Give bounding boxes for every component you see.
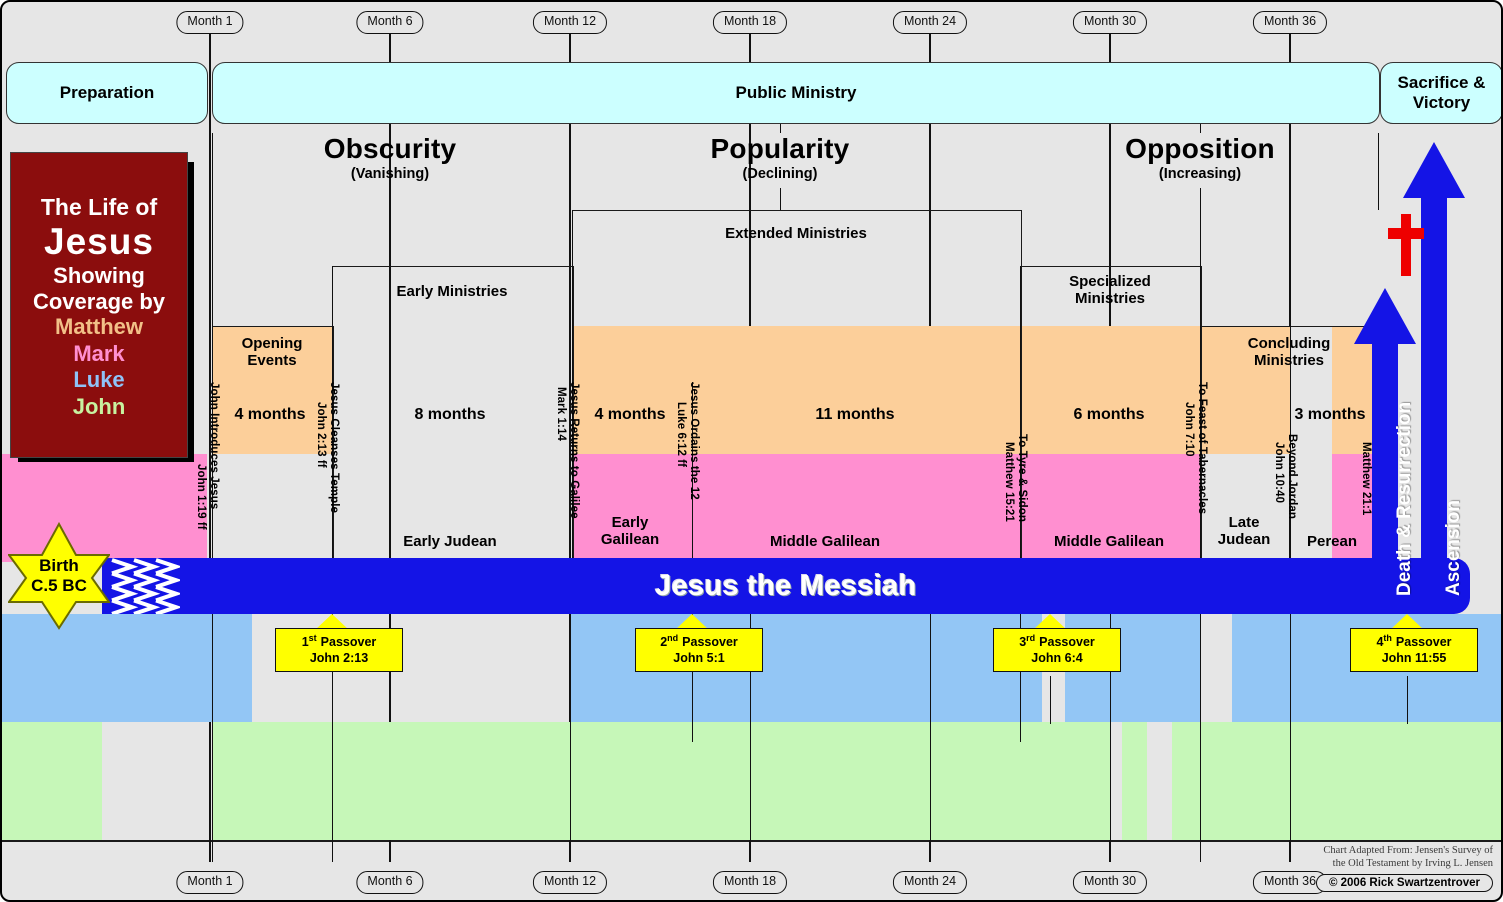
month-marker-top-4: Month 18 [713,11,787,34]
phase-separator-2 [1378,133,1379,210]
passover-tag: 4thPassoverJohn 11:55 [1350,628,1478,672]
header-bar-1: Public Ministry [212,62,1380,124]
event-ref-1: John 2:13 ff [315,402,327,468]
phase-title-2: Opposition(Increasing) [1050,133,1350,182]
passover-reference: John 11:55 [1357,651,1471,667]
header-bar-2: Sacrifice & Victory [1380,62,1503,124]
life-of-jesus-timeline-chart: PreparationPublic MinistrySacrifice & Vi… [0,0,1503,902]
passover-stem [692,676,693,724]
month-marker-top-2: Month 6 [356,11,423,34]
passover-title: 1stPassover [282,633,396,651]
passover-reference: John 6:4 [1000,651,1114,667]
event-label-2: Jesus Returns to Galilee [568,382,580,519]
gospel-band-luke-left [2,614,102,722]
chart-credit: Chart Adapted From: Jensen's Survey ofth… [1323,844,1493,870]
month-marker-top-1: Month 1 [176,11,243,34]
period-label-0: Early Judean [375,534,525,551]
plaque-gospel-john: John [73,394,126,420]
arrow-2: Ascension [1403,142,1465,614]
gospel-band-john [1172,722,1503,840]
plaque-face: The Life ofJesusShowingCoverage byMatthe… [10,152,188,458]
month-marker-bottom-3: Month 12 [533,871,607,894]
event-label-5: To Feast of Tabernacles [1196,382,1208,514]
duration-label-3: 11 months [785,406,925,424]
gospel-band-john [1122,722,1147,840]
timeline-break-zigzag [110,558,180,614]
arrow-label-2: Ascension [1443,500,1465,596]
passover-word: Passover [682,635,738,649]
month-marker-bottom-5: Month 24 [893,871,967,894]
passover-ordinal-suffix: st [309,633,317,643]
passover-ordinal-suffix: th [1383,633,1392,643]
phase-stub-1 [390,188,391,266]
event-ref-4: Matthew 15:21 [1003,442,1015,522]
event-label-0: John Introduces Jesus [208,382,220,509]
plaque-gospel-matthew: Matthew [55,314,143,340]
passover-reference: John 2:13 [282,651,396,667]
month-marker-bottom-6: Month 30 [1073,871,1147,894]
passover-ordinal-suffix: rd [1026,633,1035,643]
passover-title: 4thPassover [1357,633,1471,651]
gospel-band-john [212,722,1110,840]
phase-separator-0 [570,133,571,210]
phase-separator-1 [930,133,931,210]
gospel-band-luke [212,614,252,722]
passover-title: 2ndPassover [642,633,756,651]
plaque-line-showing: Showing [53,263,145,289]
month-marker-top-5: Month 24 [893,11,967,34]
credit-line-2: the Old Testament by Irving L. Jensen [1323,857,1493,870]
passover-stem [332,676,333,724]
phase-subtitle: (Increasing) [1050,166,1350,182]
passover-tag: 1stPassoverJohn 2:13 [275,628,403,672]
month-marker-bottom-1: Month 1 [176,871,243,894]
month-marker-top-3: Month 12 [533,11,607,34]
plaque-line-coverage-by: Coverage by [33,289,165,315]
cross-icon [1388,214,1424,276]
ministry-box-label-1: Early Ministries [332,284,572,301]
passover-word: Passover [321,635,377,649]
messiah-bar: Jesus the Messiah [102,558,1470,614]
passover-tag: 2ndPassoverJohn 5:1 [635,628,763,672]
period-label-3: Middle Galilean [1034,534,1184,551]
passover-flag-1: 1stPassoverJohn 2:13 [275,614,389,724]
ministry-box-label-4: Opening Events [212,336,332,370]
phase-title-1: Popularity(Declining) [630,133,930,182]
passover-ordinal-suffix: nd [667,633,678,643]
month-marker-bottom-2: Month 6 [356,871,423,894]
passover-word: Passover [1039,635,1095,649]
duration-label-1: 8 months [380,406,520,424]
month-marker-top-6: Month 30 [1073,11,1147,34]
gospel-band-john [2,722,102,840]
passover-tag: 3rdPassoverJohn 6:4 [993,628,1121,672]
copyright-badge: © 2006 Rick Swartzentrover [1316,874,1493,892]
passover-flag-3: 3rdPassoverJohn 6:4 [993,614,1107,724]
plaque-line-jesus: Jesus [44,221,154,262]
phase-name: Opposition [1050,133,1350,165]
period-label-1: Early Galilean [555,515,705,548]
passover-title: 3rdPassover [1000,633,1114,651]
event-ref-2: Mark 1:14 [555,387,567,441]
event-ref-5: John 7:10 [1183,402,1195,457]
phase-name: Popularity [630,133,930,165]
phase-name: Obscurity [240,133,540,165]
month-marker-top-7: Month 36 [1253,11,1327,34]
event-label-4: To Tyre & Sidon [1016,434,1028,522]
birth-date: C.5 BC [31,576,87,596]
event-ref-6: John 10:40 [1273,442,1285,503]
passover-flag-2: 2ndPassoverJohn 5:1 [635,614,749,724]
credit-line-1: Chart Adapted From: Jensen's Survey of [1323,844,1493,857]
band-bottom-rule-2 [212,840,1382,842]
ministry-box-label-3: Concluding Ministries [1200,336,1378,370]
period-label-2: Middle Galilean [750,534,900,551]
plaque-line-the-life-of: The Life of [41,194,157,221]
header-bar-0: Preparation [6,62,208,124]
passover-word: Passover [1396,635,1452,649]
phase-stub-5 [1200,188,1201,266]
birth-label: Birth [39,556,79,576]
passover-flag-4: 4thPassoverJohn 11:55 [1350,614,1464,724]
passover-reference: John 5:1 [642,651,756,667]
messiah-bar-label: Jesus the Messiah [655,570,916,603]
plaque-gospel-luke: Luke [73,367,124,393]
passover-stem [1050,676,1051,724]
event-label-6: Beyond Jordan [1286,434,1298,519]
passover-ordinal: 1 [302,635,309,649]
event-ref-3: Luke 6:12 ff [675,402,687,467]
birth-star-text: BirthC.5 BC [8,522,110,630]
title-plaque: The Life ofJesusShowingCoverage byMatthe… [10,152,186,452]
ministry-box-label-2: Specialized Ministries [1020,274,1200,308]
birth-star: BirthC.5 BC [8,522,110,630]
duration-label-4: 6 months [1039,406,1179,424]
passover-stem [1407,676,1408,724]
ministry-box-0 [572,210,1022,564]
plaque-gospel-mark: Mark [73,341,124,367]
red-cross-shape [1388,214,1424,276]
phase-subtitle: (Declining) [630,166,930,182]
phase-subtitle: (Vanishing) [240,166,540,182]
month-marker-bottom-4: Month 18 [713,871,787,894]
event-label-3: Jesus Ordains the 12 [688,382,700,500]
event-ref-0: John 1:19 ff [195,464,207,530]
phase-stub-3 [780,188,781,210]
event-label-1: Jesus Cleanses Temple [328,382,340,513]
phase-title-0: Obscurity(Vanishing) [240,133,540,182]
ministry-box-label-0: Extended Ministries [572,226,1020,243]
